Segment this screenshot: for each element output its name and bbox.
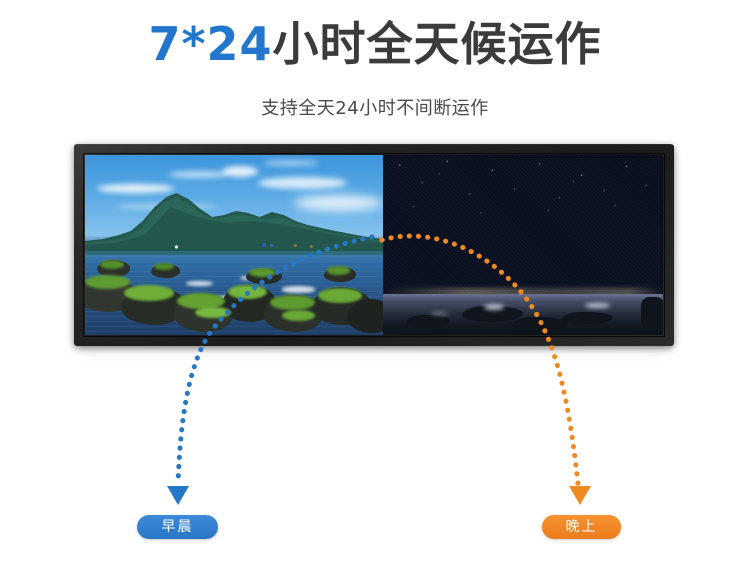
label-morning[interactable]: 早晨 [137, 515, 218, 539]
moss-patch [327, 266, 351, 274]
label-evening[interactable]: 晚上 [542, 515, 621, 539]
water-reflection [431, 312, 448, 316]
shore-rock [347, 299, 383, 334]
page-title: 7*24小时全天候运作 [0, 16, 750, 72]
moss-patch [124, 285, 175, 301]
evening-arrowhead-icon [569, 486, 591, 505]
page-title-highlight: 7*24 [148, 17, 272, 71]
water-reflection [585, 303, 610, 308]
monitor-bezel [74, 144, 674, 346]
moss-patch [270, 295, 315, 310]
day-scene-panel [85, 155, 383, 335]
page-subtitle: 支持全天24小时不间断运作 [0, 96, 750, 122]
page-root: 7*24小时全天候运作 支持全天24小时不间断运作 [0, 0, 750, 573]
moss-patch [85, 275, 130, 288]
morning-arrowhead-icon [167, 486, 189, 505]
monitor-screen [85, 155, 663, 335]
night-scene-panel [383, 155, 663, 335]
moss-patch [282, 310, 315, 321]
rocky-shore [85, 252, 383, 335]
moss-patch [249, 268, 276, 277]
moss-patch [100, 260, 124, 269]
moss-patch [318, 288, 363, 303]
night-rock [641, 297, 663, 328]
water-reflection [484, 304, 504, 309]
monitor-device [74, 144, 674, 348]
night-rock [406, 315, 451, 328]
night-rock [562, 312, 612, 325]
page-title-rest: 小时全天候运作 [273, 17, 602, 71]
